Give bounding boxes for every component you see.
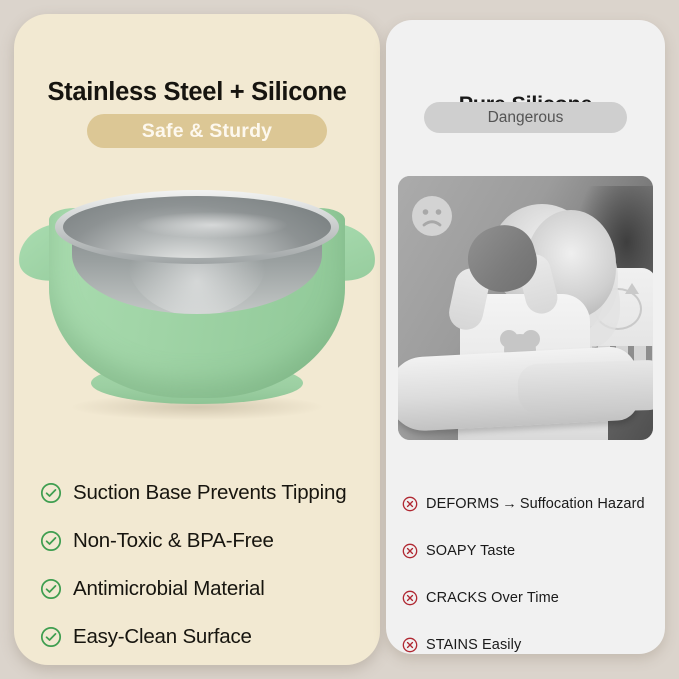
list-item: Suction Base Prevents Tipping bbox=[40, 469, 362, 517]
comparison-infographic: Stainless Steel + Silicone Safe & Sturdy bbox=[0, 0, 679, 679]
good-feature-label: Antimicrobial Material bbox=[73, 577, 265, 601]
bad-issue-label: DEFORMS→Suffocation Hazard bbox=[426, 496, 645, 512]
list-item: CRACKS Over Time bbox=[402, 574, 659, 621]
bad-issue-label: STAINS Easily bbox=[426, 637, 521, 653]
bad-issue-tail: Suffocation Hazard bbox=[520, 496, 645, 512]
sad-face-icon bbox=[410, 194, 454, 238]
bad-issue-label: SOAPY Taste bbox=[426, 543, 515, 559]
good-feature-label: Non-Toxic & BPA-Free bbox=[73, 529, 274, 553]
bad-issue-label: CRACKS Over Time bbox=[426, 590, 559, 606]
panel-pure-silicone: Pure Silicone Dangerous bbox=[386, 20, 665, 654]
list-item: STAINS Easily bbox=[402, 621, 659, 654]
good-panel-title: Stainless Steel + Silicone bbox=[14, 78, 380, 107]
photo-chair-tray-right bbox=[517, 359, 653, 414]
list-item: Antimicrobial Material bbox=[40, 565, 362, 613]
x-circle-icon bbox=[402, 543, 418, 559]
bad-issue-lead: DEFORMS bbox=[426, 496, 499, 512]
good-panel-badge: Safe & Sturdy bbox=[87, 114, 327, 148]
x-circle-icon bbox=[402, 496, 418, 512]
arrow-right-icon: → bbox=[499, 496, 520, 512]
panel-stainless-steel-silicone: Stainless Steel + Silicone Safe & Sturdy bbox=[14, 14, 380, 665]
good-feature-label: Easy-Clean Surface bbox=[73, 625, 252, 649]
good-panel-badge-label: Safe & Sturdy bbox=[142, 120, 272, 143]
good-feature-list: Suction Base Prevents Tipping Non-Toxic … bbox=[40, 469, 362, 661]
check-circle-icon bbox=[40, 578, 62, 600]
list-item: Easy-Clean Surface bbox=[40, 613, 362, 661]
list-item: Non-Toxic & BPA-Free bbox=[40, 517, 362, 565]
x-circle-icon bbox=[402, 590, 418, 606]
list-item: DEFORMS→Suffocation Hazard bbox=[402, 480, 659, 527]
list-item: SOAPY Taste bbox=[402, 527, 659, 574]
hazard-photo bbox=[398, 176, 653, 440]
bowl-highlight bbox=[137, 212, 287, 238]
x-circle-icon bbox=[402, 637, 418, 653]
bad-panel-badge: Dangerous bbox=[424, 102, 627, 133]
good-feature-label: Suction Base Prevents Tipping bbox=[73, 481, 346, 505]
bad-issue-list: DEFORMS→Suffocation Hazard SOAPY Taste bbox=[402, 480, 659, 654]
bad-panel-badge-label: Dangerous bbox=[488, 109, 564, 127]
product-bowl-illustration bbox=[14, 182, 380, 444]
check-circle-icon bbox=[40, 482, 62, 504]
check-circle-icon bbox=[40, 530, 62, 552]
check-circle-icon bbox=[40, 626, 62, 648]
